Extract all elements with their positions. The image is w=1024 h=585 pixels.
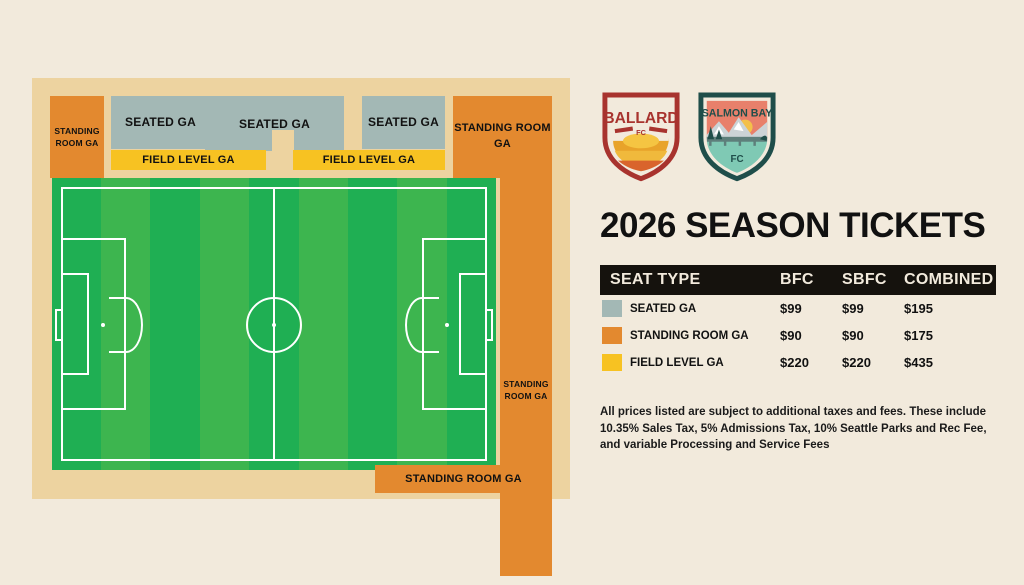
salmon-bay-fc-crest: SALMON BAY FC [696,90,778,182]
salmon-bay-crest-fc: FC [730,154,743,165]
row-combined-price: $195 [904,301,996,316]
salmon-bay-crest-name: SALMON BAY [702,107,773,119]
header-sbfc: SBFC [842,271,904,289]
header-bfc: BFC [780,271,842,289]
ballard-fc-crest: BALLARD FC [600,90,682,182]
pricing-table: SEAT TYPE BFC SBFC COMBINED SEATED GA $9… [600,265,996,376]
header-seat-type: SEAT TYPE [600,271,780,289]
row-bfc-price: $99 [780,301,842,316]
goal-right [485,309,493,341]
section-standing-room-right-top[interactable]: STANDING ROOM GA [453,96,552,178]
row-sbfc-price: $99 [842,301,904,316]
row-combined-price: $175 [904,328,996,343]
info-column: BALLARD FC [600,90,996,454]
club-crests: BALLARD FC [600,90,996,186]
goal-area-left [61,273,89,375]
section-seated-right[interactable]: SEATED GA [362,96,445,149]
header-combined: COMBINED [904,271,996,289]
section-standing-room-bottom[interactable]: STANDING ROOM GA [375,465,552,493]
table-row: STANDING ROOM GA $90 $90 $175 [600,322,996,349]
price-disclaimer: All prices listed are subject to additio… [600,404,988,454]
row-bfc-price: $220 [780,355,842,370]
page-title: 2026 SEASON TICKETS [600,208,996,243]
goal-area-right [459,273,487,375]
row-seat-type: SEATED GA [630,303,696,315]
penalty-arc-right [405,297,439,353]
penalty-arc-left [109,297,143,353]
legend-swatch-field-level [602,354,622,371]
row-sbfc-price: $90 [842,328,904,343]
row-bfc-price: $90 [780,328,842,343]
section-seated-left[interactable]: SEATED GA [111,96,210,149]
ballard-crest-fc: FC [636,128,647,137]
table-header-row: SEAT TYPE BFC SBFC COMBINED [600,265,996,295]
row-seat-type: FIELD LEVEL GA [630,357,724,369]
penalty-spot-right [445,323,449,327]
section-standing-room-left[interactable]: STANDING ROOM GA [50,96,104,178]
seated-center-notch [272,130,294,152]
section-field-level-right[interactable]: FIELD LEVEL GA [293,150,445,170]
section-standing-room-right[interactable]: STANDING ROOM GA [500,178,552,576]
legend-swatch-standing-room [602,327,622,344]
poster-canvas: STANDING ROOM GA SEATED GA SEATED GA SEA… [0,0,1024,585]
goal-left [55,309,63,341]
table-row: SEATED GA $99 $99 $195 [600,295,996,322]
table-row: FIELD LEVEL GA $220 $220 $435 [600,349,996,376]
row-seat-type: STANDING ROOM GA [630,330,749,342]
legend-swatch-seated [602,300,622,317]
soccer-pitch [52,178,496,470]
stadium-map: STANDING ROOM GA SEATED GA SEATED GA SEA… [32,78,570,499]
penalty-spot-left [101,323,105,327]
section-field-level-left[interactable]: FIELD LEVEL GA [111,150,266,170]
ballard-crest-name: BALLARD [603,110,678,127]
row-sbfc-price: $220 [842,355,904,370]
center-spot [272,323,276,327]
row-combined-price: $435 [904,355,996,370]
